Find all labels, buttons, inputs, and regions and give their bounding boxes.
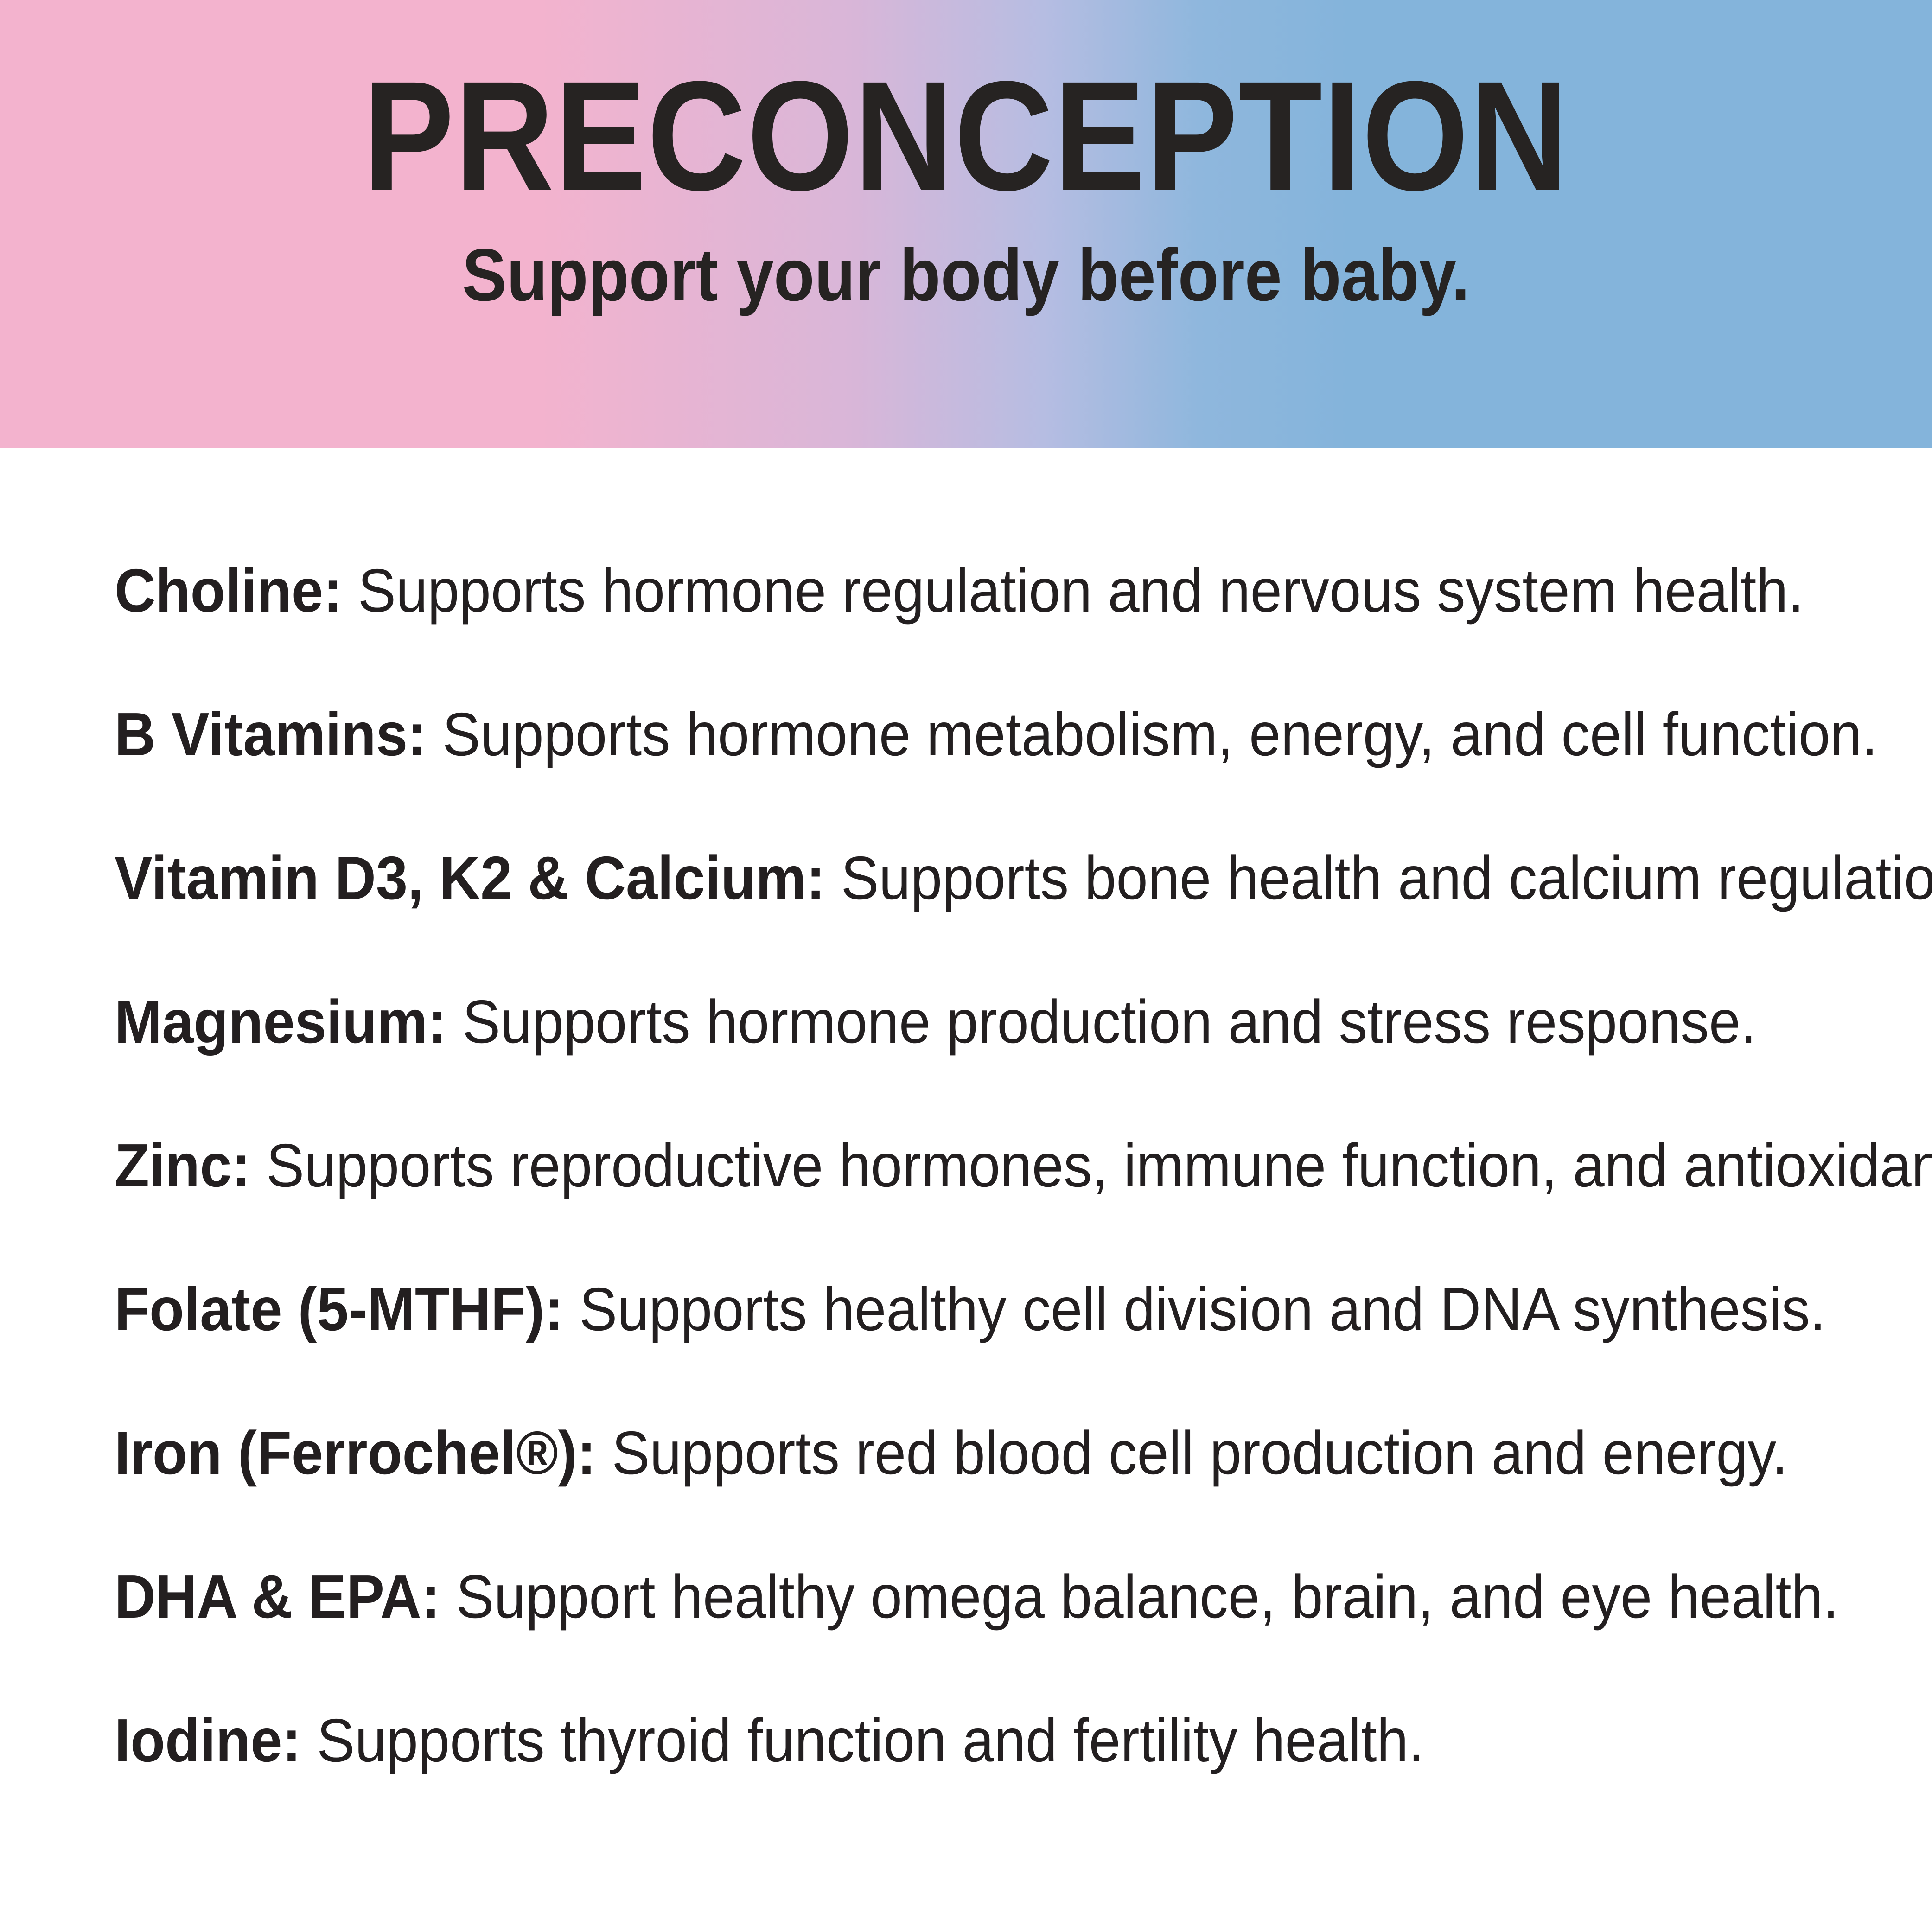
benefit-label: Folate (5-MTHF): (115, 1275, 563, 1343)
benefit-label: Iron (Ferrochel®): (115, 1419, 596, 1487)
benefit-label: Vitamin D3, K2 & Calcium: (115, 844, 825, 912)
benefit-line: Magnesium: Supports hormone production a… (115, 991, 1756, 1052)
list-item: Magnesium: Supports hormone production a… (115, 991, 1830, 1135)
benefit-description: Supports healthy cell division and DNA s… (563, 1275, 1826, 1343)
list-item: Zinc: Supports reproductive hormones, im… (115, 1135, 1830, 1279)
benefit-description: Supports hormone metabolism, energy, and… (427, 700, 1878, 768)
benefit-description: Support healthy omega balance, brain, an… (440, 1562, 1839, 1631)
benefit-line: Zinc: Supports reproductive hormones, im… (115, 1135, 1932, 1196)
page-title: PRECONCEPTION (363, 70, 1569, 204)
header-banner: PRECONCEPTION Support your body before b… (0, 0, 1932, 448)
benefit-line: Folate (5-MTHF): Supports healthy cell d… (115, 1279, 1826, 1340)
benefit-line: DHA & EPA: Support healthy omega balance… (115, 1566, 1839, 1627)
page-subtitle: Support your body before baby. (462, 238, 1470, 312)
benefit-label: DHA & EPA: (115, 1562, 440, 1631)
list-item: Choline: Supports hormone regulation and… (115, 560, 1830, 704)
benefit-line: Vitamin D3, K2 & Calcium: Supports bone … (115, 848, 1932, 909)
benefit-line: Choline: Supports hormone regulation and… (115, 560, 1804, 621)
benefit-label: Magnesium: (115, 988, 446, 1056)
benefit-label: Zinc: (115, 1131, 250, 1199)
list-item: Folate (5-MTHF): Supports healthy cell d… (115, 1279, 1830, 1422)
list-item: Iron (Ferrochel®): Supports red blood ce… (115, 1422, 1830, 1566)
benefit-label: B Vitamins: (115, 700, 427, 768)
benefits-list: Choline: Supports hormone regulation and… (115, 560, 1830, 1854)
benefit-description: Supports red blood cell production and e… (596, 1419, 1788, 1487)
benefit-description: Supports thyroid function and fertility … (301, 1706, 1424, 1774)
list-item: B Vitamins: Supports hormone metabolism,… (115, 704, 1830, 848)
benefit-description: Supports bone health and calcium regulat… (825, 844, 1932, 912)
benefit-line: Iron (Ferrochel®): Supports red blood ce… (115, 1422, 1788, 1484)
list-item: Vitamin D3, K2 & Calcium: Supports bone … (115, 848, 1830, 991)
benefit-label: Choline: (115, 556, 342, 625)
benefit-description: Supports reproductive hormones, immune f… (250, 1131, 1932, 1199)
benefit-description: Supports hormone regulation and nervous … (342, 556, 1804, 625)
benefit-line: Iodine: Supports thyroid function and fe… (115, 1710, 1424, 1771)
benefit-description: Supports hormone production and stress r… (446, 988, 1756, 1056)
list-item: Iodine: Supports thyroid function and fe… (115, 1710, 1830, 1854)
benefit-label: Iodine: (115, 1706, 301, 1774)
list-item: DHA & EPA: Support healthy omega balance… (115, 1566, 1830, 1710)
benefit-line: B Vitamins: Supports hormone metabolism,… (115, 704, 1878, 765)
